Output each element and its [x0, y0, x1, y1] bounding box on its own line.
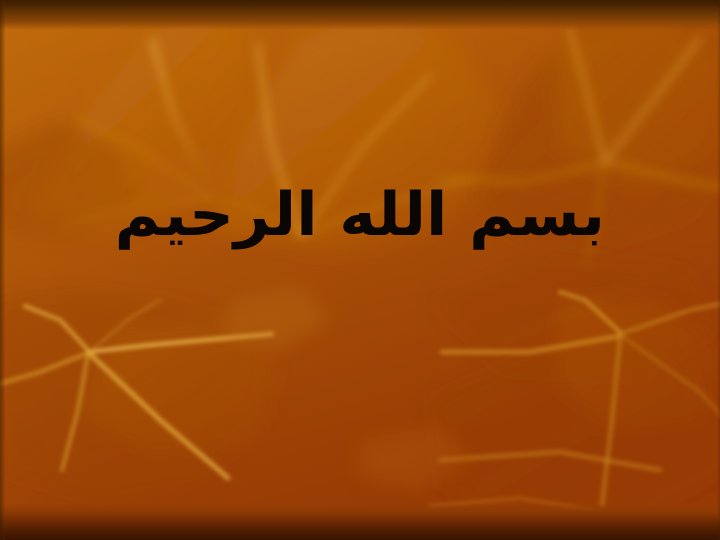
presentation-slide: بسم الله الرحیم	[0, 0, 720, 540]
leaf-background-artwork	[0, 0, 720, 540]
